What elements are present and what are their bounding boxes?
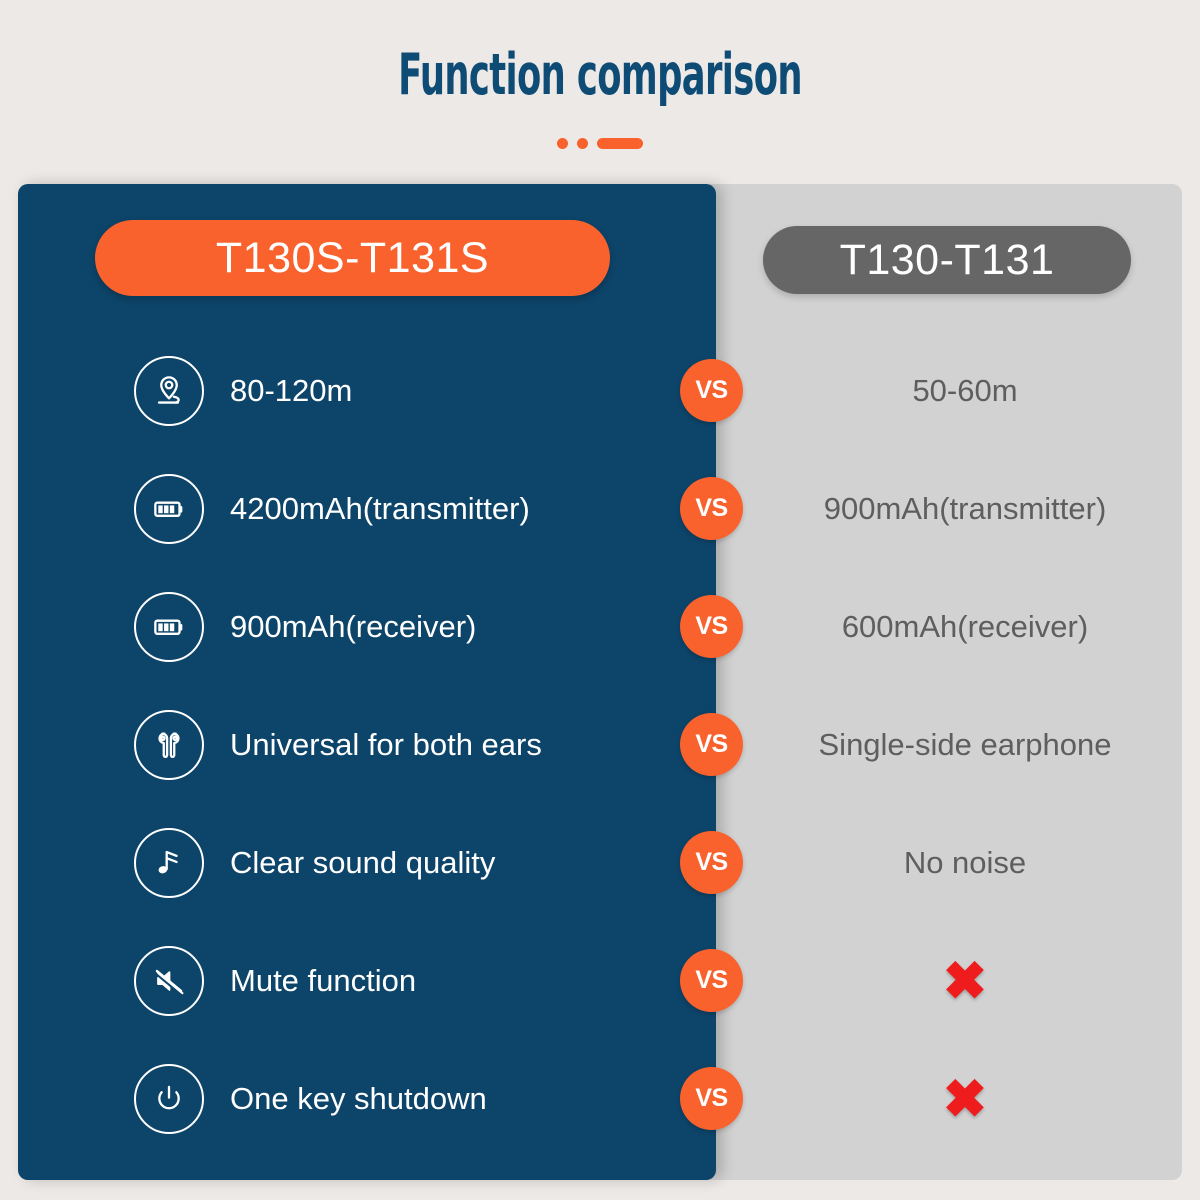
battery-icon [134, 474, 204, 544]
right-feature-label: 900mAh(transmitter) [748, 474, 1182, 544]
vs-badge: VS [680, 595, 743, 658]
decoration-dot-2 [577, 138, 588, 149]
left-feature-label: Clear sound quality [230, 828, 495, 898]
power-icon [134, 1064, 204, 1134]
decoration-bar [597, 138, 643, 149]
title-decoration [0, 138, 1200, 149]
left-feature-label: 4200mAh(transmitter) [230, 474, 530, 544]
comparison-row: 4200mAh(transmitter)VS900mAh(transmitter… [18, 474, 1182, 544]
right-feature-cross: ✖ [748, 1064, 1182, 1134]
left-feature-label: One key shutdown [230, 1064, 487, 1134]
vs-badge: VS [680, 831, 743, 894]
decoration-dot-1 [557, 138, 568, 149]
vs-badge: VS [680, 477, 743, 540]
music-note-icon [134, 828, 204, 898]
earbuds-icon [134, 710, 204, 780]
page-title: Function comparison [228, 42, 972, 108]
vs-badge: VS [680, 713, 743, 776]
cross-icon: ✖ [943, 955, 987, 1008]
right-feature-label: No noise [748, 828, 1182, 898]
location-pin-icon [134, 356, 204, 426]
battery-icon [134, 592, 204, 662]
comparison-row: One key shutdownVS✖ [18, 1064, 1182, 1134]
vs-badge: VS [680, 359, 743, 422]
cross-icon: ✖ [943, 1073, 987, 1126]
left-feature-label: 900mAh(receiver) [230, 592, 476, 662]
right-feature-label: 50-60m [748, 356, 1182, 426]
comparison-row: Clear sound qualityVSNo noise [18, 828, 1182, 898]
left-feature-label: Universal for both ears [230, 710, 542, 780]
vs-badge: VS [680, 949, 743, 1012]
comparison-row: Mute functionVS✖ [18, 946, 1182, 1016]
comparison-row: 80-120mVS50-60m [18, 356, 1182, 426]
mute-icon [134, 946, 204, 1016]
title-area: Function comparison [0, 0, 1200, 184]
right-feature-label: 600mAh(receiver) [748, 592, 1182, 662]
right-feature-label: Single-side earphone [748, 710, 1182, 780]
left-feature-label: Mute function [230, 946, 416, 1016]
left-feature-label: 80-120m [230, 356, 352, 426]
vs-badge: VS [680, 1067, 743, 1130]
comparison-row: 900mAh(receiver)VS600mAh(receiver) [18, 592, 1182, 662]
comparison-panel: T130S-T131S T130-T131 80-120mVS50-60m420… [18, 184, 1182, 1180]
comparison-rows: 80-120mVS50-60m4200mAh(transmitter)VS900… [18, 184, 1182, 1180]
comparison-row: Universal for both earsVSSingle-side ear… [18, 710, 1182, 780]
right-feature-cross: ✖ [748, 946, 1182, 1016]
